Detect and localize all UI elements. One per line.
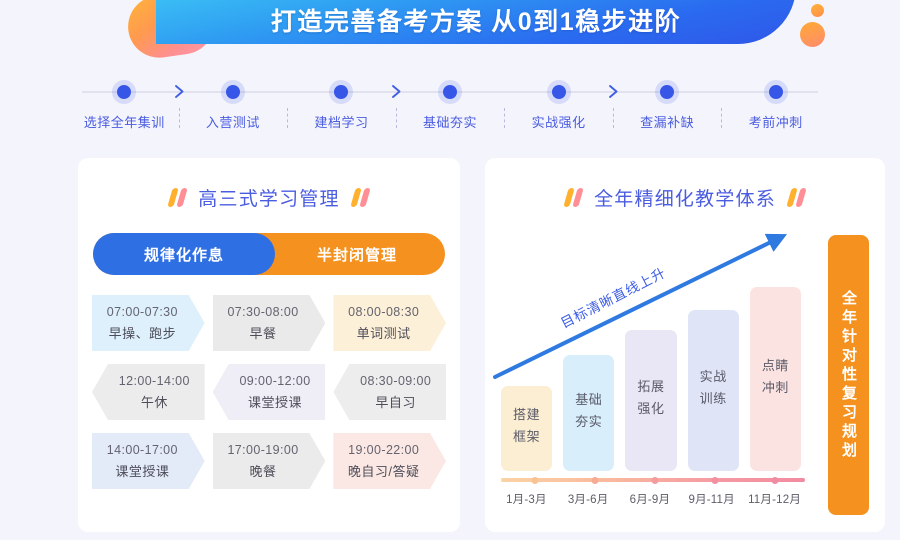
chart-bar-label-line1: 实战 [700, 366, 727, 385]
timeline-step-2[interactable]: 入营测试 [179, 78, 288, 134]
chart-bar[interactable]: 基础夯实 [563, 355, 614, 471]
schedule-chip-activity: 早操、跑步 [109, 323, 177, 342]
decorative-dot-large-icon [800, 22, 825, 47]
yearly-plan-sidebar-label: 全年针对性复习规划 [841, 290, 856, 461]
chart-axis-tick-dot-icon [532, 477, 539, 484]
schedule-chip-time: 08:30-09:00 [360, 374, 431, 388]
schedule-chip[interactable]: 08:30-09:00早自习 [333, 364, 446, 420]
timeline-step-label: 基础夯实 [423, 112, 477, 131]
timeline-step-dot-icon [660, 85, 674, 99]
schedule-chip[interactable]: 08:00-08:30单词测试 [333, 295, 446, 351]
timeline-step-dot-icon [769, 85, 783, 99]
schedule-chip-time: 07:30-08:00 [227, 305, 298, 319]
chart-axis-tick-label: 11月-12月 [748, 491, 801, 507]
chart-bar-label-line1: 拓展 [637, 376, 664, 395]
schedule-chip-time: 07:00-07:30 [107, 305, 178, 319]
yearly-plan-sidebar: 全年针对性复习规划 [828, 235, 869, 515]
decorative-dot-small-icon [811, 4, 824, 17]
chart-axis-line [501, 478, 805, 482]
timeline-step-dot-icon [552, 85, 566, 99]
schedule-chip-time: 19:00-22:00 [348, 443, 419, 457]
timeline-step-3[interactable]: 建档学习 [287, 78, 396, 134]
chart-axis-tick-label: 9月-11月 [686, 491, 737, 507]
schedule-chip[interactable]: 17:00-19:00晚餐 [213, 433, 326, 489]
chart-axis-labels: 1月-3月3月-6月6月-9月9月-11月11月-12月 [501, 491, 801, 507]
timeline-step-6[interactable]: 查漏补缺 [613, 78, 722, 134]
chart-axis-tick-label: 1月-3月 [501, 491, 552, 507]
schedule-chip-time: 12:00-14:00 [119, 374, 190, 388]
schedule-chip-activity: 课堂授课 [115, 461, 169, 480]
left-card-title: 高三式学习管理 [198, 184, 339, 211]
schedule-chip-time: 14:00-17:00 [107, 443, 178, 457]
timeline-step-dot-icon [117, 85, 131, 99]
schedule-chip-activity: 晚自习/答疑 [348, 461, 420, 480]
schedule-chip-time: 09:00-12:00 [239, 374, 310, 388]
progress-timeline: 选择全年集训入营测试建档学习基础夯实实战强化查漏补缺考前冲刺 [70, 78, 830, 134]
schedule-row-2: 12:00-14:00午休09:00-12:00课堂授课08:30-09:00早… [92, 364, 446, 420]
chart-axis-tick-dot-icon [592, 477, 599, 484]
timeline-step-dot-icon [226, 85, 240, 99]
schedule-chip-activity: 早餐 [250, 323, 277, 342]
teaching-system-card: 全年精细化教学体系 目标清晰直线上升 搭建框架基础夯实拓展强化实战训练点睛冲刺 … [485, 158, 885, 532]
timeline-step-label: 选择全年集训 [84, 112, 165, 131]
chart-axis-tick-label: 3月-6月 [563, 491, 614, 507]
toggle-inactive-label: 半封闭管理 [269, 244, 445, 265]
chart-bar[interactable]: 实战训练 [688, 310, 739, 471]
timeline-step-dot-icon [334, 85, 348, 99]
chart-bars: 搭建框架基础夯实拓展强化实战训练点睛冲刺 [501, 265, 801, 471]
schedule-chip-activity: 午休 [141, 392, 168, 411]
page-title: 打造完善备考方案 从0到1稳步进阶 [271, 2, 681, 38]
slash-decoration-left-icon [170, 188, 185, 207]
schedule-chip-activity: 晚餐 [250, 461, 277, 480]
schedule-chip-time: 08:00-08:30 [348, 305, 419, 319]
chart-axis-tick-dot-icon [772, 477, 779, 484]
chart-axis-tick-label: 6月-9月 [625, 491, 676, 507]
schedule-chip[interactable]: 14:00-17:00课堂授课 [92, 433, 205, 489]
chart-bar-label-line2: 强化 [637, 398, 664, 417]
chart-bar-label-line2: 夯实 [575, 411, 602, 430]
chart-bar-label-line2: 框架 [513, 426, 540, 445]
schedule-chip[interactable]: 07:30-08:00早餐 [213, 295, 326, 351]
timeline-step-dot-icon [443, 85, 457, 99]
toggle-active-label: 规律化作息 [144, 244, 224, 265]
schedule-chip[interactable]: 19:00-22:00晚自习/答疑 [333, 433, 446, 489]
infographic-root: 打造完善备考方案 从0到1稳步进阶 选择全年集训入营测试建档学习基础夯实实战强化… [0, 0, 900, 540]
toggle-option-regular-routine[interactable]: 规律化作息 [93, 233, 275, 275]
schedule-row-1: 07:00-07:30早操、跑步07:30-08:00早餐08:00-08:30… [92, 295, 446, 351]
slash-decoration-left-icon-2 [566, 188, 581, 207]
slash-decoration-right-icon-2 [789, 188, 804, 207]
schedule-chip[interactable]: 12:00-14:00午休 [92, 364, 205, 420]
timeline-step-4[interactable]: 基础夯实 [396, 78, 505, 134]
chart-axis-tick-dot-icon [652, 477, 659, 484]
timeline-step-5[interactable]: 实战强化 [504, 78, 613, 134]
chart-bar[interactable]: 拓展强化 [625, 330, 676, 472]
header-banner: 打造完善备考方案 从0到1稳步进阶 [156, 0, 796, 44]
timeline-step-label: 考前冲刺 [749, 112, 803, 131]
yearly-progress-chart: 目标清晰直线上升 搭建框架基础夯实拓展强化实战训练点睛冲刺 1月-3月3月-6月… [485, 229, 885, 529]
chart-axis-tick-dot-icon [712, 477, 719, 484]
chart-bar-label-line1: 点睛 [762, 355, 789, 374]
chart-bar[interactable]: 点睛冲刺 [750, 287, 801, 471]
timeline-step-label: 查漏补缺 [640, 112, 694, 131]
daily-schedule-grid: 07:00-07:30早操、跑步07:30-08:00早餐08:00-08:30… [92, 295, 446, 489]
schedule-chip-activity: 早自习 [375, 392, 416, 411]
chart-bar-label-line1: 搭建 [513, 404, 540, 423]
schedule-chip-activity: 单词测试 [357, 323, 411, 342]
chart-bar-label-line2: 训练 [700, 388, 727, 407]
chart-bar-label-line1: 基础 [575, 389, 602, 408]
timeline-step-label: 实战强化 [532, 112, 586, 131]
study-management-card: 高三式学习管理 半封闭管理 规律化作息 07:00-07:30早操、跑步07:3… [78, 158, 460, 532]
right-card-title: 全年精细化教学体系 [594, 184, 776, 211]
left-card-title-row: 高三式学习管理 [78, 158, 460, 211]
timeline-steps: 选择全年集训入营测试建档学习基础夯实实战强化查漏补缺考前冲刺 [70, 78, 830, 134]
header-banner-zone: 打造完善备考方案 从0到1稳步进阶 [0, 0, 900, 62]
right-card-title-row: 全年精细化教学体系 [485, 158, 885, 211]
timeline-step-1[interactable]: 选择全年集训 [70, 78, 179, 134]
timeline-step-7[interactable]: 考前冲刺 [721, 78, 830, 134]
schedule-mode-toggle[interactable]: 半封闭管理 规律化作息 [93, 233, 445, 275]
timeline-step-label: 入营测试 [206, 112, 260, 131]
schedule-row-3: 14:00-17:00课堂授课17:00-19:00晚餐19:00-22:00晚… [92, 433, 446, 489]
slash-decoration-right-icon [353, 188, 368, 207]
schedule-chip[interactable]: 09:00-12:00课堂授课 [213, 364, 326, 420]
schedule-chip[interactable]: 07:00-07:30早操、跑步 [92, 295, 205, 351]
schedule-chip-activity: 课堂授课 [248, 392, 302, 411]
chart-bar-label-line2: 冲刺 [762, 377, 789, 396]
timeline-step-label: 建档学习 [314, 112, 368, 131]
schedule-chip-time: 17:00-19:00 [227, 443, 298, 457]
chart-bar[interactable]: 搭建框架 [501, 386, 552, 471]
